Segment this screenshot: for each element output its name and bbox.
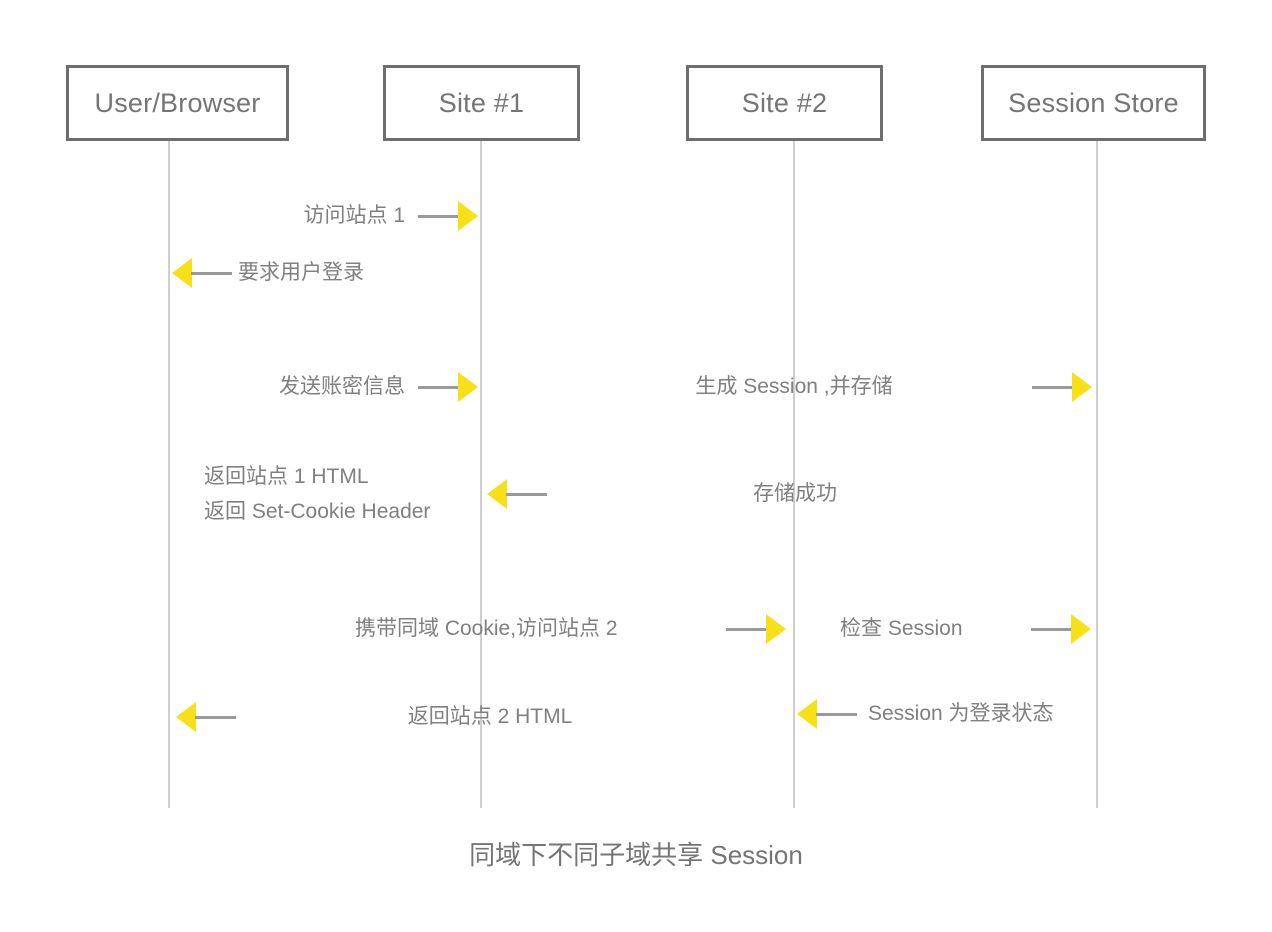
message-arrow-right-check-session (1031, 614, 1091, 644)
actor-box-session-store[interactable]: Session Store (981, 65, 1206, 141)
message-label-request-user-login: 要求用户登录 (238, 256, 498, 290)
message-arrow-left-request-login (172, 258, 232, 288)
arrow-head-right-icon (458, 372, 478, 402)
lifeline-user-browser (168, 141, 170, 808)
arrow-head-right-icon (1071, 614, 1091, 644)
arrow-stem (506, 493, 547, 496)
message-arrow-right-send-credentials (418, 372, 478, 402)
message-label-return-site-2-html: 返回站点 2 HTML (340, 700, 640, 734)
arrow-stem (191, 272, 232, 275)
actor-label-user-browser: User/Browser (95, 88, 261, 119)
message-arrow-left-session-logged-in (797, 699, 857, 729)
message-arrow-right-visit-site-2 (726, 614, 786, 644)
arrow-stem (418, 215, 459, 218)
arrow-head-right-icon (458, 201, 478, 231)
arrow-head-right-icon (766, 614, 786, 644)
arrow-stem (195, 716, 236, 719)
arrow-head-left-icon (176, 702, 196, 732)
message-label-create-and-store-session: 生成 Session ,并存储 (600, 370, 988, 404)
actor-box-site-2[interactable]: Site #2 (686, 65, 883, 141)
message-label-line-1: 返回站点 1 HTML (204, 459, 474, 494)
message-label-store-success: 存储成功 (650, 477, 940, 511)
sequence-diagram-canvas: User/Browser Site #1 Site #2 Session Sto… (0, 0, 1272, 932)
arrow-stem (726, 628, 767, 631)
actor-box-user-browser[interactable]: User/Browser (66, 65, 289, 141)
message-arrow-left-return-site-2-html (176, 702, 236, 732)
arrow-head-left-icon (172, 258, 192, 288)
message-label-line-2: 返回 Set-Cookie Header (204, 494, 474, 529)
arrow-stem (1032, 386, 1073, 389)
message-arrow-right-store-session (1032, 372, 1092, 402)
actor-label-site-1: Site #1 (439, 88, 524, 119)
message-label-visit-site-1: 访问站点 1 (200, 199, 405, 233)
message-label-session-is-logged-in: Session 为登录状态 (868, 697, 1108, 731)
message-label-visit-site-2-with-cookie: 携带同域 Cookie,访问站点 2 (355, 612, 675, 646)
arrow-head-right-icon (1072, 372, 1092, 402)
diagram-caption: 同域下不同子域共享 Session (0, 835, 1272, 872)
message-label-send-credentials: 发送账密信息 (200, 370, 405, 404)
arrow-stem (816, 713, 857, 716)
message-label-check-session: 检查 Session (840, 612, 1015, 646)
arrow-head-left-icon (797, 699, 817, 729)
arrow-stem (1031, 628, 1072, 631)
message-arrow-left-return-site-1-html (487, 479, 547, 509)
arrow-stem (418, 386, 459, 389)
actor-label-session-store: Session Store (1008, 88, 1179, 119)
lifeline-site-2 (793, 141, 795, 808)
actor-label-site-2: Site #2 (742, 88, 827, 119)
arrow-head-left-icon (487, 479, 507, 509)
message-arrow-right-visit-site-1 (418, 201, 478, 231)
actor-box-site-1[interactable]: Site #1 (383, 65, 580, 141)
message-label-return-site-1-html-and-set-cookie: 返回站点 1 HTML 返回 Set-Cookie Header (204, 459, 474, 529)
